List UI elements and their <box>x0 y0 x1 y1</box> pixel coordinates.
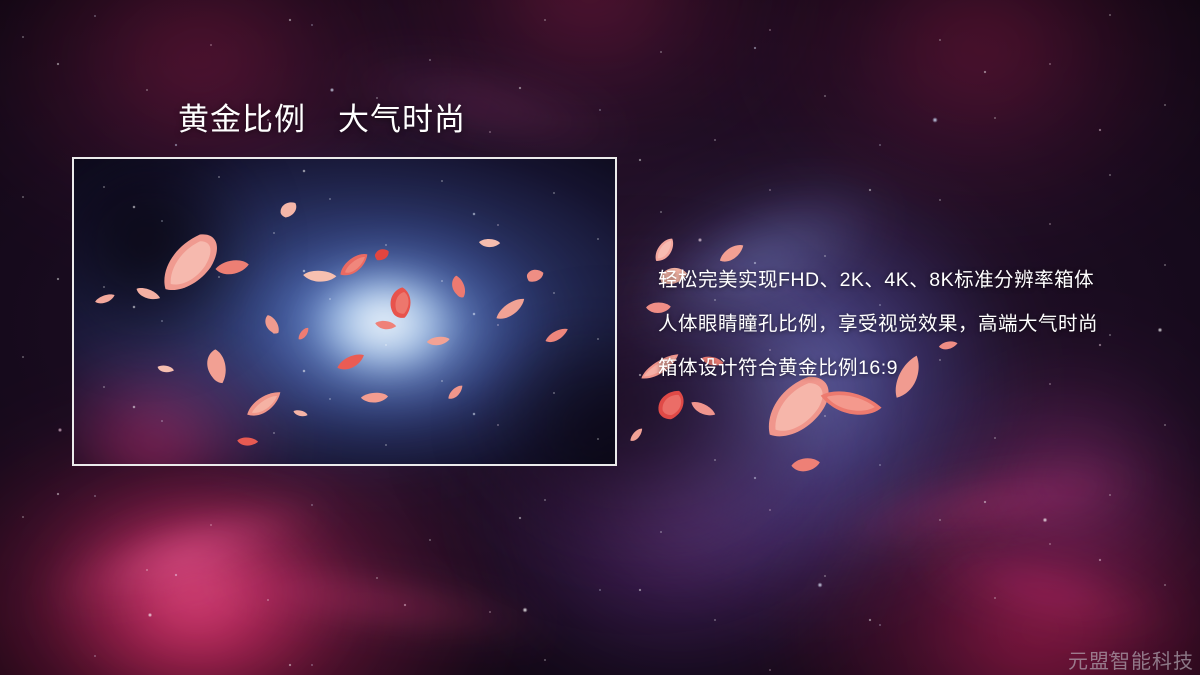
body-line: 轻松完美实现FHD、2K、4K、8K标准分辨率箱体 <box>658 258 1098 302</box>
frame-star-field <box>74 159 615 464</box>
photo-frame <box>72 157 617 466</box>
page-title: 黄金比例 大气时尚 <box>178 100 466 140</box>
watermark: 元盟智能科技 <box>1068 645 1194 674</box>
body-line: 人体眼睛瞳孔比例，享受视觉效果，高端大气时尚 <box>658 302 1098 346</box>
photo-frame-image <box>74 159 615 464</box>
body-line: 箱体设计符合黄金比例16:9 <box>658 346 1098 390</box>
body-text-block: 轻松完美实现FHD、2K、4K、8K标准分辨率箱体 人体眼睛瞳孔比例，享受视觉效… <box>658 258 1098 390</box>
slide-canvas: 黄金比例 大气时尚 轻松完美实现FHD、2K、4K、8K标准分辨率箱体 人体眼睛… <box>0 0 1200 675</box>
